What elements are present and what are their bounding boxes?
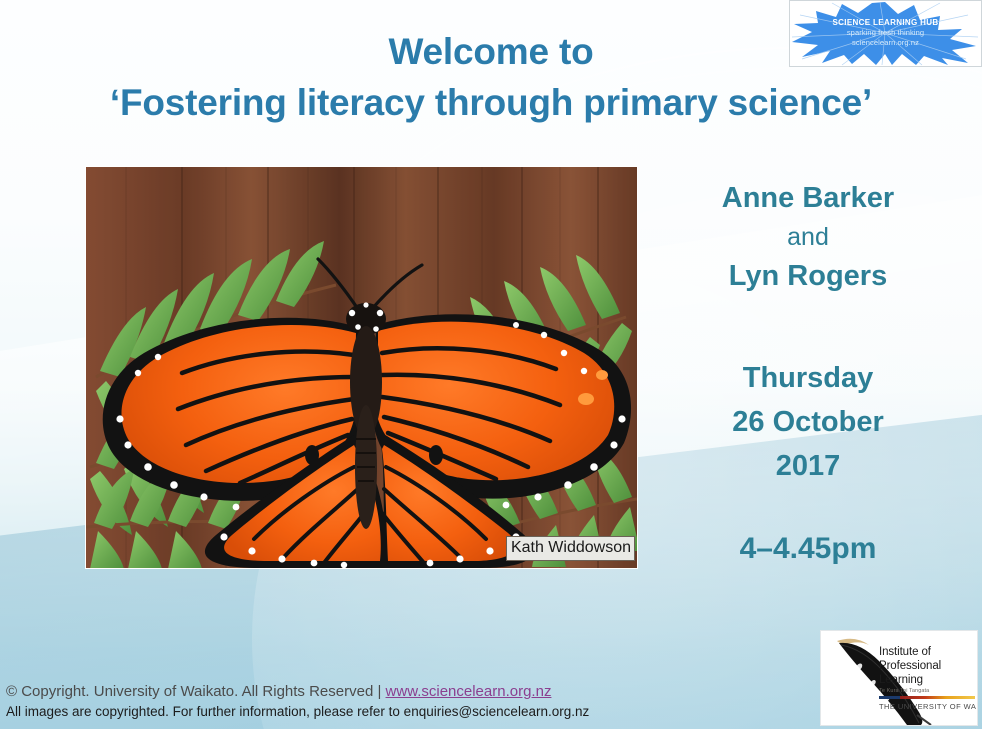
slide-footer: © Copyright. University of Waikato. All …	[6, 681, 589, 721]
ipl-university-line: THE UNIVERSITY OF WAIKATO	[879, 701, 977, 712]
event-time: 4–4.45pm	[648, 528, 968, 570]
copyright-line: © Copyright. University of Waikato. All …	[6, 681, 589, 702]
sciencelearn-link[interactable]: www.sciencelearn.org.nz	[386, 683, 552, 700]
butterfly-photo: Kath Widdowson	[85, 166, 638, 569]
ipl-line-1: Institute of	[879, 645, 977, 659]
ipl-logo-text: Institute of Professional Learning Te Ku…	[879, 645, 977, 712]
presentation-slide: Welcome to ‘Fostering literacy through p…	[0, 0, 982, 729]
presenter-name-1: Anne Barker	[648, 178, 968, 218]
event-year: 2017	[648, 444, 968, 488]
event-date: Thursday 26 October 2017	[648, 356, 968, 488]
title-line-2: ‘Fostering literacy through primary scie…	[0, 77, 982, 128]
institute-professional-learning-logo: Institute of Professional Learning Te Ku…	[820, 630, 978, 726]
event-day: Thursday	[648, 356, 968, 400]
ipl-maori-subtitle: Te Kura Toi Tangata	[879, 688, 977, 695]
event-details: Anne Barker and Lyn Rogers Thursday 26 O…	[648, 178, 968, 570]
ipl-color-bar	[879, 696, 975, 699]
photo-credit: Kath Widdowson	[506, 536, 635, 561]
copyright-text: © Copyright. University of Waikato. All …	[6, 683, 386, 700]
presenter-name-2: Lyn Rogers	[648, 256, 968, 296]
science-learning-hub-logo: SCIENCE LEARNING HUB sparking fresh thin…	[789, 0, 982, 67]
ipl-line-2: Professional Learning	[879, 659, 977, 687]
starburst-icon	[790, 1, 981, 66]
butterfly-photo-image	[86, 167, 637, 568]
presenter-conjunction: and	[648, 218, 968, 256]
image-rights-line: All images are copyrighted. For further …	[6, 702, 589, 721]
event-date-value: 26 October	[648, 400, 968, 444]
